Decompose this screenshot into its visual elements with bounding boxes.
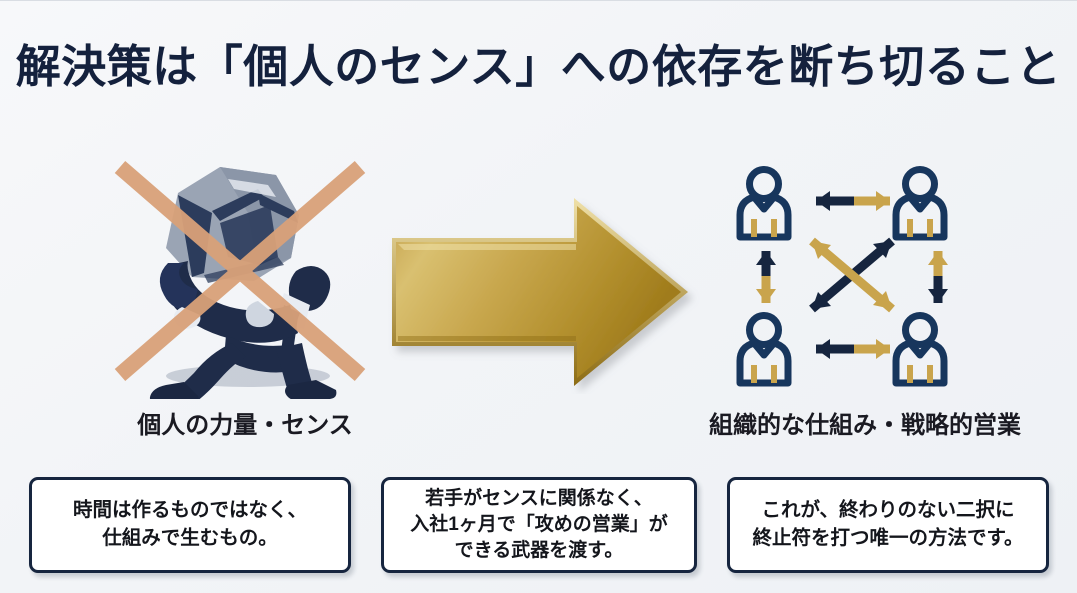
message-box-1: 時間は作るものではなく、 仕組みで生むもの。: [29, 477, 351, 573]
left-visual-caption: 個人の力量・センス: [70, 405, 420, 440]
message-box-3-text: これが、終わりのない二択に 終止符を打つ唯一の方法です。: [744, 497, 1031, 552]
businessman-carrying-boulder-icon: [108, 153, 380, 399]
person-bottom-left: [740, 316, 788, 384]
right-visual-caption: 組織的な仕組み・戦略的営業: [690, 405, 1040, 440]
four-people-network-icon: [732, 161, 972, 393]
message-box-2: 若手がセンスに関係なく、 入社1ヶ月で「攻めの営業」が できる武器を渡す。: [381, 477, 697, 573]
message-box-2-text: 若手がセンスに関係なく、 入社1ヶ月で「攻めの営業」が できる武器を渡す。: [402, 486, 676, 563]
person-top-right: [896, 170, 944, 238]
page-title: 解決策は「個人のセンス」への依存を断ち切ること: [0, 39, 1077, 95]
slide-canvas: 解決策は「個人のセンス」への依存を断ち切ること: [0, 0, 1077, 593]
message-box-3: これが、終わりのない二択に 終止符を打つ唯一の方法です。: [727, 477, 1049, 573]
message-box-1-text: 時間は作るものではなく、 仕組みで生むもの。: [65, 497, 315, 552]
gold-right-arrow-icon: [378, 194, 708, 394]
person-top-left: [740, 170, 788, 238]
person-bottom-right: [896, 316, 944, 384]
